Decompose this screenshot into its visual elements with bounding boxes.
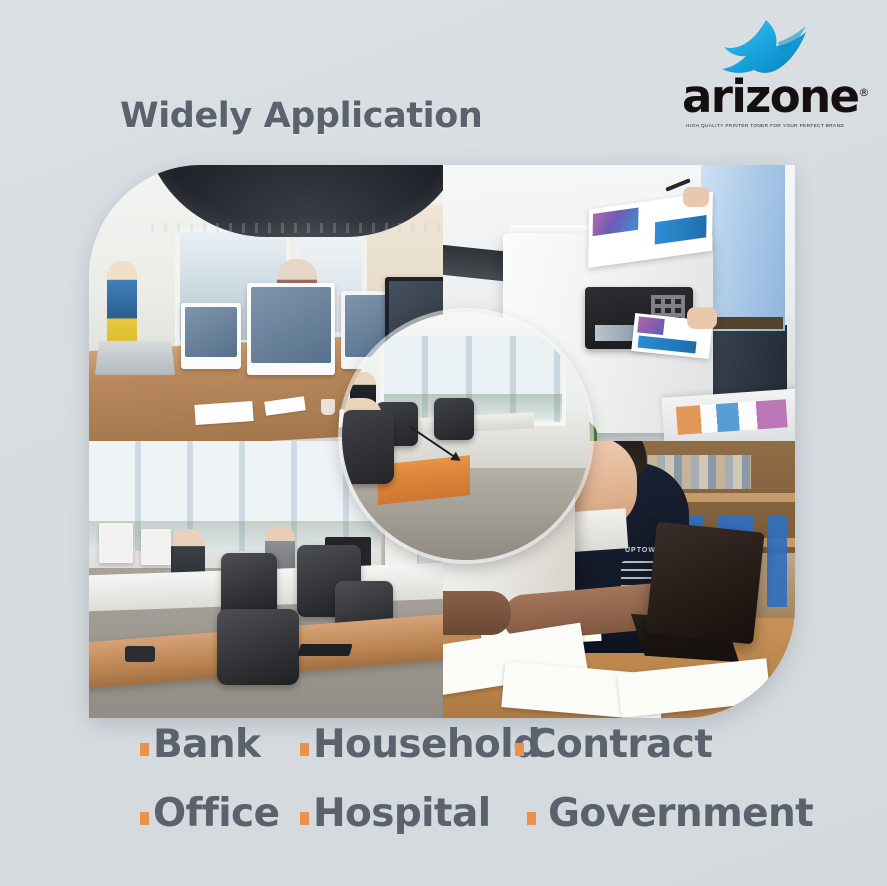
brand-name: arizone <box>682 70 858 123</box>
application-list: Bank Household Contract Office Hospital <box>140 725 840 863</box>
application-label: Contract <box>528 725 712 764</box>
application-item-government: Government <box>515 794 813 833</box>
collage-photo-center-circle <box>342 312 590 560</box>
bird-icon <box>716 18 812 78</box>
brand-logo: arizone® HIGH QUALITY PRINTER TONER FOR … <box>682 18 842 133</box>
application-label: Household <box>313 725 540 764</box>
application-row: Office Hospital Government <box>140 794 840 863</box>
application-label: Government <box>548 794 813 833</box>
application-item-bank: Bank <box>140 725 300 764</box>
application-item-hospital: Hospital <box>300 794 515 833</box>
application-row: Bank Household Contract <box>140 725 840 794</box>
bullet-icon <box>300 743 309 756</box>
bullet-icon <box>527 812 536 825</box>
image-collage: UPTOWN <box>89 165 795 718</box>
bullet-icon <box>515 743 524 756</box>
application-item-household: Household <box>300 725 515 764</box>
brand-tagline: HIGH QUALITY PRINTER TONER FOR YOUR PERF… <box>686 123 845 128</box>
registered-mark: ® <box>858 86 869 99</box>
application-label: Hospital <box>313 794 490 833</box>
application-item-contract: Contract <box>515 725 712 764</box>
bullet-icon <box>140 743 149 756</box>
application-item-office: Office <box>140 794 300 833</box>
page-title: Widely Application <box>120 96 482 136</box>
brand-wordmark: arizone® <box>682 74 842 119</box>
poster-page: arizone® HIGH QUALITY PRINTER TONER FOR … <box>0 0 887 886</box>
bullet-icon <box>140 812 149 825</box>
bullet-icon <box>300 812 309 825</box>
application-label: Bank <box>153 725 260 764</box>
application-label: Office <box>153 794 279 833</box>
